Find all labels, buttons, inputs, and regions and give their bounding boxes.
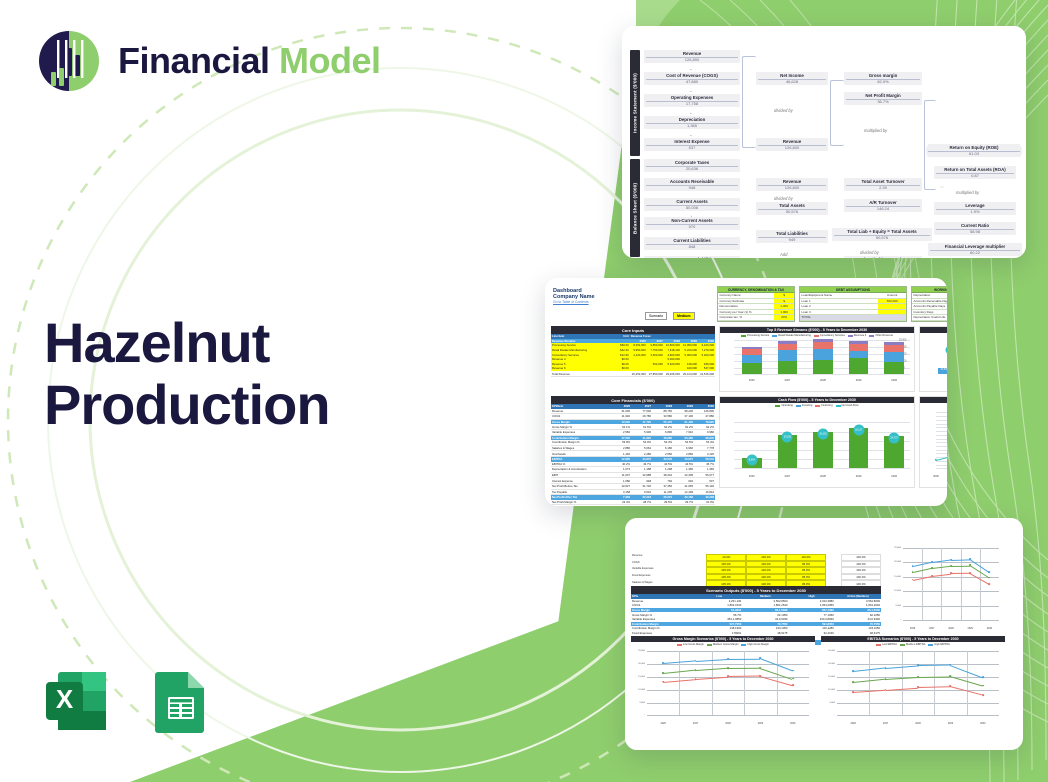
legend-swatch <box>848 335 853 337</box>
gridline <box>936 453 947 454</box>
table-cell: 6,180 <box>652 446 673 451</box>
gridline <box>936 442 947 443</box>
table-cell: 32,688 <box>631 473 652 478</box>
table-cell: 29.7% <box>673 500 694 505</box>
table-cell: 2,860 <box>673 451 694 456</box>
table-cell: 1,298 <box>652 467 673 472</box>
table-cell: 56,140 <box>694 484 715 489</box>
core-financials-table[interactable]: KPI/Item20262027202820292030Revenue31,50… <box>551 404 715 506</box>
x-axis-tick: 2028 <box>820 475 826 478</box>
legend-swatch <box>796 405 801 407</box>
table-cell: COGS <box>551 414 610 419</box>
gridline <box>936 446 947 447</box>
node-revenue-is: Revenue 126,800 <box>644 50 740 63</box>
panel-debt-assumptions: DEBT ASSUMPTIONS Loan/Equipment NameAmou… <box>799 286 907 322</box>
group-label-income-statement: Income Statement ($'000) <box>630 50 640 156</box>
bar-segment <box>849 358 869 374</box>
vertical-gridline <box>967 651 968 715</box>
data-point <box>988 583 990 585</box>
chart-plot: 25,00020,00015,00010,0005,000-2026202720… <box>720 338 914 382</box>
table-cell: 33,580 <box>652 414 673 419</box>
table-cell: 43.7% <box>631 462 652 467</box>
input-cell[interactable]: -10.0% <box>706 554 746 561</box>
vertical-gridline <box>941 548 942 620</box>
legend-item: Other Revenue <box>869 334 893 337</box>
spacer <box>940 186 944 188</box>
input-cell[interactable]: 105.0% <box>706 567 746 574</box>
data-bubble: 40.2% <box>946 346 947 355</box>
dashboard-heading: Dashboard Company Name Go to Table of Co… <box>553 288 595 304</box>
legend-swatch <box>814 335 819 337</box>
table-cell: 7,442 <box>610 505 631 506</box>
microsoft-excel-icon[interactable]: X <box>40 664 114 738</box>
data-point <box>969 572 971 574</box>
table-cell: 38,242 <box>652 473 673 478</box>
table-cell: 62.1% <box>610 424 631 429</box>
table-cell: EBITDA % <box>551 462 610 467</box>
scenario-sheet: Revenue-10.0%100.0%110.0%100.0%COGS105.0… <box>625 518 1023 750</box>
data-point <box>917 676 919 678</box>
table-cell: 10,527 <box>610 484 631 489</box>
node-financial-leverage-multiplier: Financial Leverage multiplier 60.22 <box>928 243 1022 256</box>
data-point <box>852 691 854 693</box>
spacer-cell <box>826 574 841 581</box>
slide-canvas: Financial Model Hazelnut Production X <box>0 0 1048 782</box>
table-row: Fixed Expenses105.0%100.0%95.0%100.0% <box>631 574 881 581</box>
table-cell: 9,522 <box>631 490 652 495</box>
vertical-gridline <box>777 651 778 715</box>
core-financials-title: Core Financials ($'000) <box>551 396 715 404</box>
bar-segment <box>884 352 904 362</box>
table-cell: 29,124,000 <box>681 371 698 376</box>
table-cell: Contribution Margin % <box>551 440 610 445</box>
data-point <box>662 681 664 683</box>
side-value-cell: 100.0% <box>841 567 881 574</box>
table-cell: Depreciation & Amortisation <box>551 467 610 472</box>
x-axis-tick: 2028 <box>725 722 730 725</box>
vertical-gridline <box>869 651 870 715</box>
y-axis-tick: 25,000 <box>631 650 645 652</box>
node-roa: Return on Total Assets (ROA) 0.87 <box>934 166 1016 179</box>
vertical-gridline <box>902 651 903 715</box>
table-cell: 44.5% <box>652 462 673 467</box>
gridline <box>936 461 947 462</box>
table-of-contents-link[interactable]: Go to Table of Contents <box>553 300 595 304</box>
table-cell: 5,900 <box>631 430 652 435</box>
node-depreciation: Depreciation 1,365 <box>644 116 740 129</box>
svg-text:X: X <box>56 684 74 714</box>
data-point <box>759 675 761 677</box>
google-sheets-icon[interactable] <box>144 664 218 738</box>
bar-stack <box>813 339 833 374</box>
spacer-cell <box>826 561 841 568</box>
y-axis-tick: 25,000 <box>821 650 835 652</box>
line-segment <box>728 667 760 668</box>
core-inputs-table[interactable]: Line ItemUnitRevenue Forecast by yearsRe… <box>551 334 715 377</box>
note-multiplied-by-1: multiplied by <box>864 128 887 133</box>
input-cell[interactable]: 95.0% <box>786 567 826 574</box>
table-cell: 2,880 <box>610 446 631 451</box>
node-total-asset-turnover: Total Asset Turnover 2.39 <box>844 178 922 191</box>
table-cell: 2,280 <box>631 451 652 456</box>
table-cell: 7,778 <box>694 446 715 451</box>
table-cell: 3,158 <box>610 490 631 495</box>
page-title-line1: Hazelnut <box>44 312 330 374</box>
data-point <box>695 660 697 662</box>
gridline <box>903 548 999 549</box>
vertical-gridline <box>744 651 745 715</box>
input-cell[interactable]: 100.0% <box>746 574 786 581</box>
input-cell[interactable]: 100.0% <box>746 561 786 568</box>
chart-plot: 31,50012,68040.2%202677,50033,87643.7%20… <box>920 338 947 382</box>
legend-item: Net Cash Flow <box>836 404 859 407</box>
legend-swatch <box>677 644 682 646</box>
line-segment <box>951 565 970 566</box>
data-point <box>912 571 914 573</box>
data-point <box>950 565 952 567</box>
table-row: Operating Cash Flow7,44224,61026,88030,1… <box>551 505 715 506</box>
x-axis-tick: 2027 <box>929 627 934 630</box>
table-cell: 30,110 <box>673 505 694 506</box>
legend-item: Low EBITDA <box>876 643 897 646</box>
table-row: Revenue-10.0%100.0%110.0%100.0% <box>631 554 881 561</box>
panel-row: Depreciation Useful Life4 <box>912 315 947 321</box>
table-cell: Net Profit Margin % <box>551 500 610 505</box>
data-point <box>931 575 933 577</box>
table-cell: Salaries & Wages <box>551 446 610 451</box>
data-point <box>727 676 729 678</box>
data-point <box>917 686 919 688</box>
legend-item: Operating <box>775 404 792 407</box>
node-net-profit-margin: Net Profit Margin 36.7% <box>844 92 922 105</box>
spacer-cell <box>826 567 841 574</box>
table-cell: 6,890 <box>652 430 673 435</box>
chart-plot: 8,064202625,250202726,325202830,12720292… <box>720 408 914 478</box>
table-row: COGS105.0%100.0%95.0%100.0% <box>631 561 881 568</box>
table-cell: 61.6% <box>631 424 652 429</box>
data-point <box>982 676 984 678</box>
legend-swatch <box>836 405 841 407</box>
note-divided-by-1: divided by <box>774 108 793 113</box>
table-cell: 40.2% <box>610 462 631 467</box>
bar-stack <box>742 347 762 375</box>
table-cell: 11,940 <box>610 414 631 419</box>
table-cell: Operating Cash Flow <box>551 505 610 506</box>
x-axis-tick: 2030 <box>891 379 897 382</box>
y-axis-tick: - <box>887 619 901 621</box>
legend-item: Processing Service <box>741 334 769 337</box>
node-non-current-assets: Non-Current Assets 570 <box>644 217 740 230</box>
legend-swatch <box>815 405 820 407</box>
y-axis-tick: 10,000 <box>631 689 645 691</box>
table-cell: 29,466,000 <box>664 371 681 376</box>
bar-stack <box>884 342 904 374</box>
table-cell: 1,365 <box>673 467 694 472</box>
table-cell: 88,750 <box>652 409 673 414</box>
card-scenario-analysis[interactable]: Revenue-10.0%100.0%110.0%100.0%COGS105.0… <box>625 518 1023 750</box>
chart-cash-flow: Cash Flow ($'000) - 5 Years to December … <box>719 396 915 488</box>
connector-2 <box>830 80 844 146</box>
node-cogs: Cost of Revenue (COGS) 47,880 <box>644 72 740 85</box>
data-point <box>969 558 971 560</box>
data-point <box>695 669 697 671</box>
y-axis-tick: 15,000 <box>631 676 645 678</box>
y-axis-tick: 5,000 <box>631 702 645 704</box>
legend-swatch <box>772 335 777 337</box>
gridline <box>647 651 809 652</box>
pie-bar-chart-logo-icon <box>36 28 102 94</box>
y-axis-tick: 20,000 <box>887 561 901 563</box>
legend-swatch <box>741 644 746 646</box>
chart-plot: 25,00020,00015,00010,0005,000-2026202720… <box>821 647 1005 725</box>
x-axis-tick: 2026 <box>749 379 755 382</box>
brand-name-part2: Model <box>279 40 381 81</box>
node-total-liabilities: Total Liabilities 949 <box>756 230 828 243</box>
legend-item: Retail Resale Manufacturing <box>772 334 811 337</box>
node-roe: Return on Equity (ROE) 61.03 <box>926 144 1022 157</box>
table-cell: 2,560 <box>652 451 673 456</box>
gridline <box>936 468 947 469</box>
brand-name-part1: Financial <box>118 40 279 81</box>
data-point <box>988 577 990 579</box>
table-cell: 27,850,000 <box>647 371 664 376</box>
chart-gross-margin-scenarios: Gross Margin Scenarios ($'000) - 5 Years… <box>631 636 815 736</box>
x-axis-tick: 2030 <box>891 475 897 478</box>
data-point <box>931 561 933 563</box>
table-cell: 98,200 <box>673 409 694 414</box>
x-axis-tick: 2027 <box>785 379 791 382</box>
data-point <box>969 564 971 566</box>
table-cell: 640 <box>673 478 694 483</box>
scenario-button[interactable]: Scenario <box>645 312 667 320</box>
node-interest-expense: Interest Expense 537 <box>644 138 740 151</box>
data-point <box>917 664 919 666</box>
data-point <box>662 662 664 664</box>
gridline <box>936 424 947 425</box>
x-axis-tick: 2029 <box>856 475 862 478</box>
table-cell: 3,120 <box>694 451 715 456</box>
node-total-liab-equity: Total Liab + Equity = Total Assets 50,57… <box>832 228 932 241</box>
panel-row: Corporate tax, %30% <box>718 315 794 321</box>
gridline <box>647 703 809 704</box>
table-cell: 44.5% <box>673 462 694 467</box>
bar-segment <box>742 355 762 363</box>
node-total-assets: Total Assets 50,576 <box>756 202 828 215</box>
table-cell: 62.2% <box>673 424 694 429</box>
page-title: Hazelnut Production <box>44 312 330 435</box>
table-cell: 11,607 <box>610 473 631 478</box>
x-axis-tick: 2028 <box>820 379 826 382</box>
legend-swatch <box>741 335 746 337</box>
legend-swatch <box>707 644 712 646</box>
gridline <box>936 427 947 428</box>
x-axis-tick: 2030 <box>987 627 992 630</box>
x-axis-tick: 2030 <box>790 722 795 725</box>
supported-apps: X <box>40 664 218 738</box>
chart-plot: 25,00020,00015,00010,0005,000-2026202720… <box>887 544 1005 630</box>
node-shareholders-equity: Shareholder's Equity 800 <box>844 256 922 258</box>
table-cell: 54.4% <box>652 440 673 445</box>
table-cell: 31,500 <box>610 409 631 414</box>
core-inputs-title: Core Inputs <box>551 326 715 334</box>
vertical-gridline <box>980 548 981 620</box>
legend-swatch <box>775 405 780 407</box>
node-net-income: Net Income 46,628 <box>756 72 828 85</box>
x-axis-tick: 2026 <box>661 722 666 725</box>
gridline <box>903 606 999 607</box>
table-cell: 20,452,000 <box>630 371 647 376</box>
table-row: Variable Expenses105.0%100.0%95.0%100.0% <box>631 567 881 574</box>
node-revenue-turnover: Revenue 126,800 <box>756 178 828 191</box>
table-cell: 31.0% <box>694 500 715 505</box>
table-cell: 23.4% <box>610 500 631 505</box>
table-cell: Total Revenue <box>551 371 607 376</box>
x-axis-tick: 2028 <box>948 627 953 630</box>
node-ar-turnover: A/R Turnover 146.24 <box>844 199 922 212</box>
input-cell[interactable]: 95.0% <box>786 574 826 581</box>
table-row: Total Revenue20,452,00027,850,00029,466,… <box>551 371 715 377</box>
data-point <box>950 572 952 574</box>
legend-item: Consultancy Services <box>814 334 845 337</box>
chart-investment-payback: Investment Payback Chart ($'000) - 5 Yea… <box>919 396 947 488</box>
table-cell: 11,235 <box>652 490 673 495</box>
gridline <box>647 715 809 716</box>
legend-swatch <box>928 644 933 646</box>
table-cell: 41,665 <box>673 484 694 489</box>
x-axis-tick: 2026 <box>933 475 939 478</box>
gridline <box>734 374 910 375</box>
data-point <box>727 667 729 669</box>
scenario-selected-medium[interactable]: Medium <box>673 312 695 320</box>
table-cell: 126,800 <box>694 409 715 414</box>
data-bubble: 25,250 <box>782 432 793 443</box>
gridline <box>936 420 947 421</box>
node-corporate-taxes: Corporate Taxes 20,636 <box>644 159 740 172</box>
table-cell: 1,440 <box>610 451 631 456</box>
data-point <box>949 686 951 688</box>
x-axis-tick: 2029 <box>856 379 862 382</box>
table-cell: 62.2% <box>652 424 673 429</box>
table-cell: 54.5% <box>673 440 694 445</box>
y-axis-tick: 20,000 <box>631 663 645 665</box>
table-cell <box>607 371 630 376</box>
left-content-column: Financial Model Hazelnut Production X <box>0 0 470 782</box>
input-cell[interactable]: 100.0% <box>746 554 786 561</box>
data-point <box>931 567 933 569</box>
x-axis-tick: 2029 <box>758 722 763 725</box>
input-cell[interactable]: 100.0% <box>746 567 786 574</box>
gridline <box>936 465 947 466</box>
row-label: Variable Expenses <box>631 567 706 574</box>
line-segment <box>951 559 970 561</box>
input-cell[interactable]: 105.0% <box>706 561 746 568</box>
table-cell: 5,664 <box>631 446 652 451</box>
vertical-gridline <box>922 548 923 620</box>
brand-name: Financial Model <box>118 43 381 79</box>
table-cell: 948 <box>631 478 652 483</box>
x-axis-tick: 2027 <box>785 475 791 478</box>
table-cell: Overheads <box>551 451 610 456</box>
chart-plot: 75,00070,00065,00060,00055,00050,00045,0… <box>920 408 947 478</box>
gridline <box>903 591 999 592</box>
table-cell: 37,450 <box>652 484 673 489</box>
data-point <box>852 670 854 672</box>
table-cell: 54.4% <box>694 440 715 445</box>
node-operating-expenses: Operating Expenses 17,758 <box>644 94 740 107</box>
data-point <box>792 684 794 686</box>
legend-item: Medium Gross Margin <box>707 643 739 646</box>
x-axis-tick: 2030 <box>980 722 985 725</box>
table-cell: 29,780 <box>631 414 652 419</box>
table-cell: Tax Payable <box>551 490 610 495</box>
table-cell: 537 <box>694 478 715 483</box>
bar-segment <box>742 363 762 374</box>
bar-segment <box>884 345 904 352</box>
gridline <box>903 562 999 563</box>
gridline <box>837 715 999 716</box>
table-cell: Variable Expenses <box>551 430 610 435</box>
x-axis-tick: 2026 <box>749 475 755 478</box>
spacer-cell <box>826 554 841 561</box>
y-axis-tick: 5,000 <box>887 605 901 607</box>
input-cell[interactable]: 110.0% <box>786 554 826 561</box>
side-value-cell: 100.0% <box>841 554 881 561</box>
row-label: Revenue <box>631 554 706 561</box>
input-cell[interactable]: 105.0% <box>706 574 746 581</box>
table-cell: 37,100 <box>673 414 694 419</box>
table-cell: 29.5% <box>652 500 673 505</box>
data-point <box>885 678 887 680</box>
y-axis-tick: 25,000 <box>887 547 901 549</box>
gridline <box>936 431 947 432</box>
table-cell: 9,980 <box>694 430 715 435</box>
table-cell: 12,499 <box>673 490 694 495</box>
y-axis-tick: 15,000 <box>887 576 901 578</box>
table-cell: 7,610 <box>673 430 694 435</box>
chart-plot: 25,00020,00015,00010,0005,000-2026202720… <box>631 647 815 725</box>
legend-item: Financing <box>815 404 832 407</box>
input-cell[interactable]: 95.0% <box>786 561 826 568</box>
gridline <box>837 651 999 652</box>
data-point <box>982 694 984 696</box>
node-current-assets: Current Assets 50,006 <box>644 198 740 211</box>
bar-segment <box>813 360 833 375</box>
panel-currency-denomination-tax: CURRENCY, DENOMINATION & TAX Currency Na… <box>717 286 795 322</box>
gridline <box>903 577 999 578</box>
table-cell: Net Profit Before Tax <box>551 484 610 489</box>
y-axis-tick: 10,000 <box>821 689 835 691</box>
table-cell: 45.7% <box>694 462 715 467</box>
y-axis-tick: - <box>631 714 645 716</box>
table-cell: EBIT <box>551 473 610 478</box>
line-segment <box>918 676 950 678</box>
data-point <box>792 678 794 680</box>
table-cell: Gross Margin % <box>551 424 610 429</box>
x-axis-tick: 2027 <box>693 722 698 725</box>
x-axis-tick: 2028 <box>915 722 920 725</box>
table-cell: 1,080 <box>610 478 631 483</box>
note-divided-by-3: divided by <box>860 250 879 255</box>
legend-swatch <box>869 335 874 337</box>
legend-item: Low Gross Margin <box>677 643 704 646</box>
card-financial-dashboard[interactable]: Dashboard Company Name Go to Table of Co… <box>545 278 947 506</box>
line-segment <box>728 658 760 659</box>
node-non-current-liabilities: Non-Current Liabilities 105 <box>644 256 740 258</box>
bar-segment <box>813 349 833 360</box>
data-point <box>912 579 914 581</box>
scenario-input-table[interactable]: Revenue-10.0%100.0%110.0%100.0%COGS105.0… <box>631 554 881 587</box>
table-cell: 16,842 <box>694 490 715 495</box>
